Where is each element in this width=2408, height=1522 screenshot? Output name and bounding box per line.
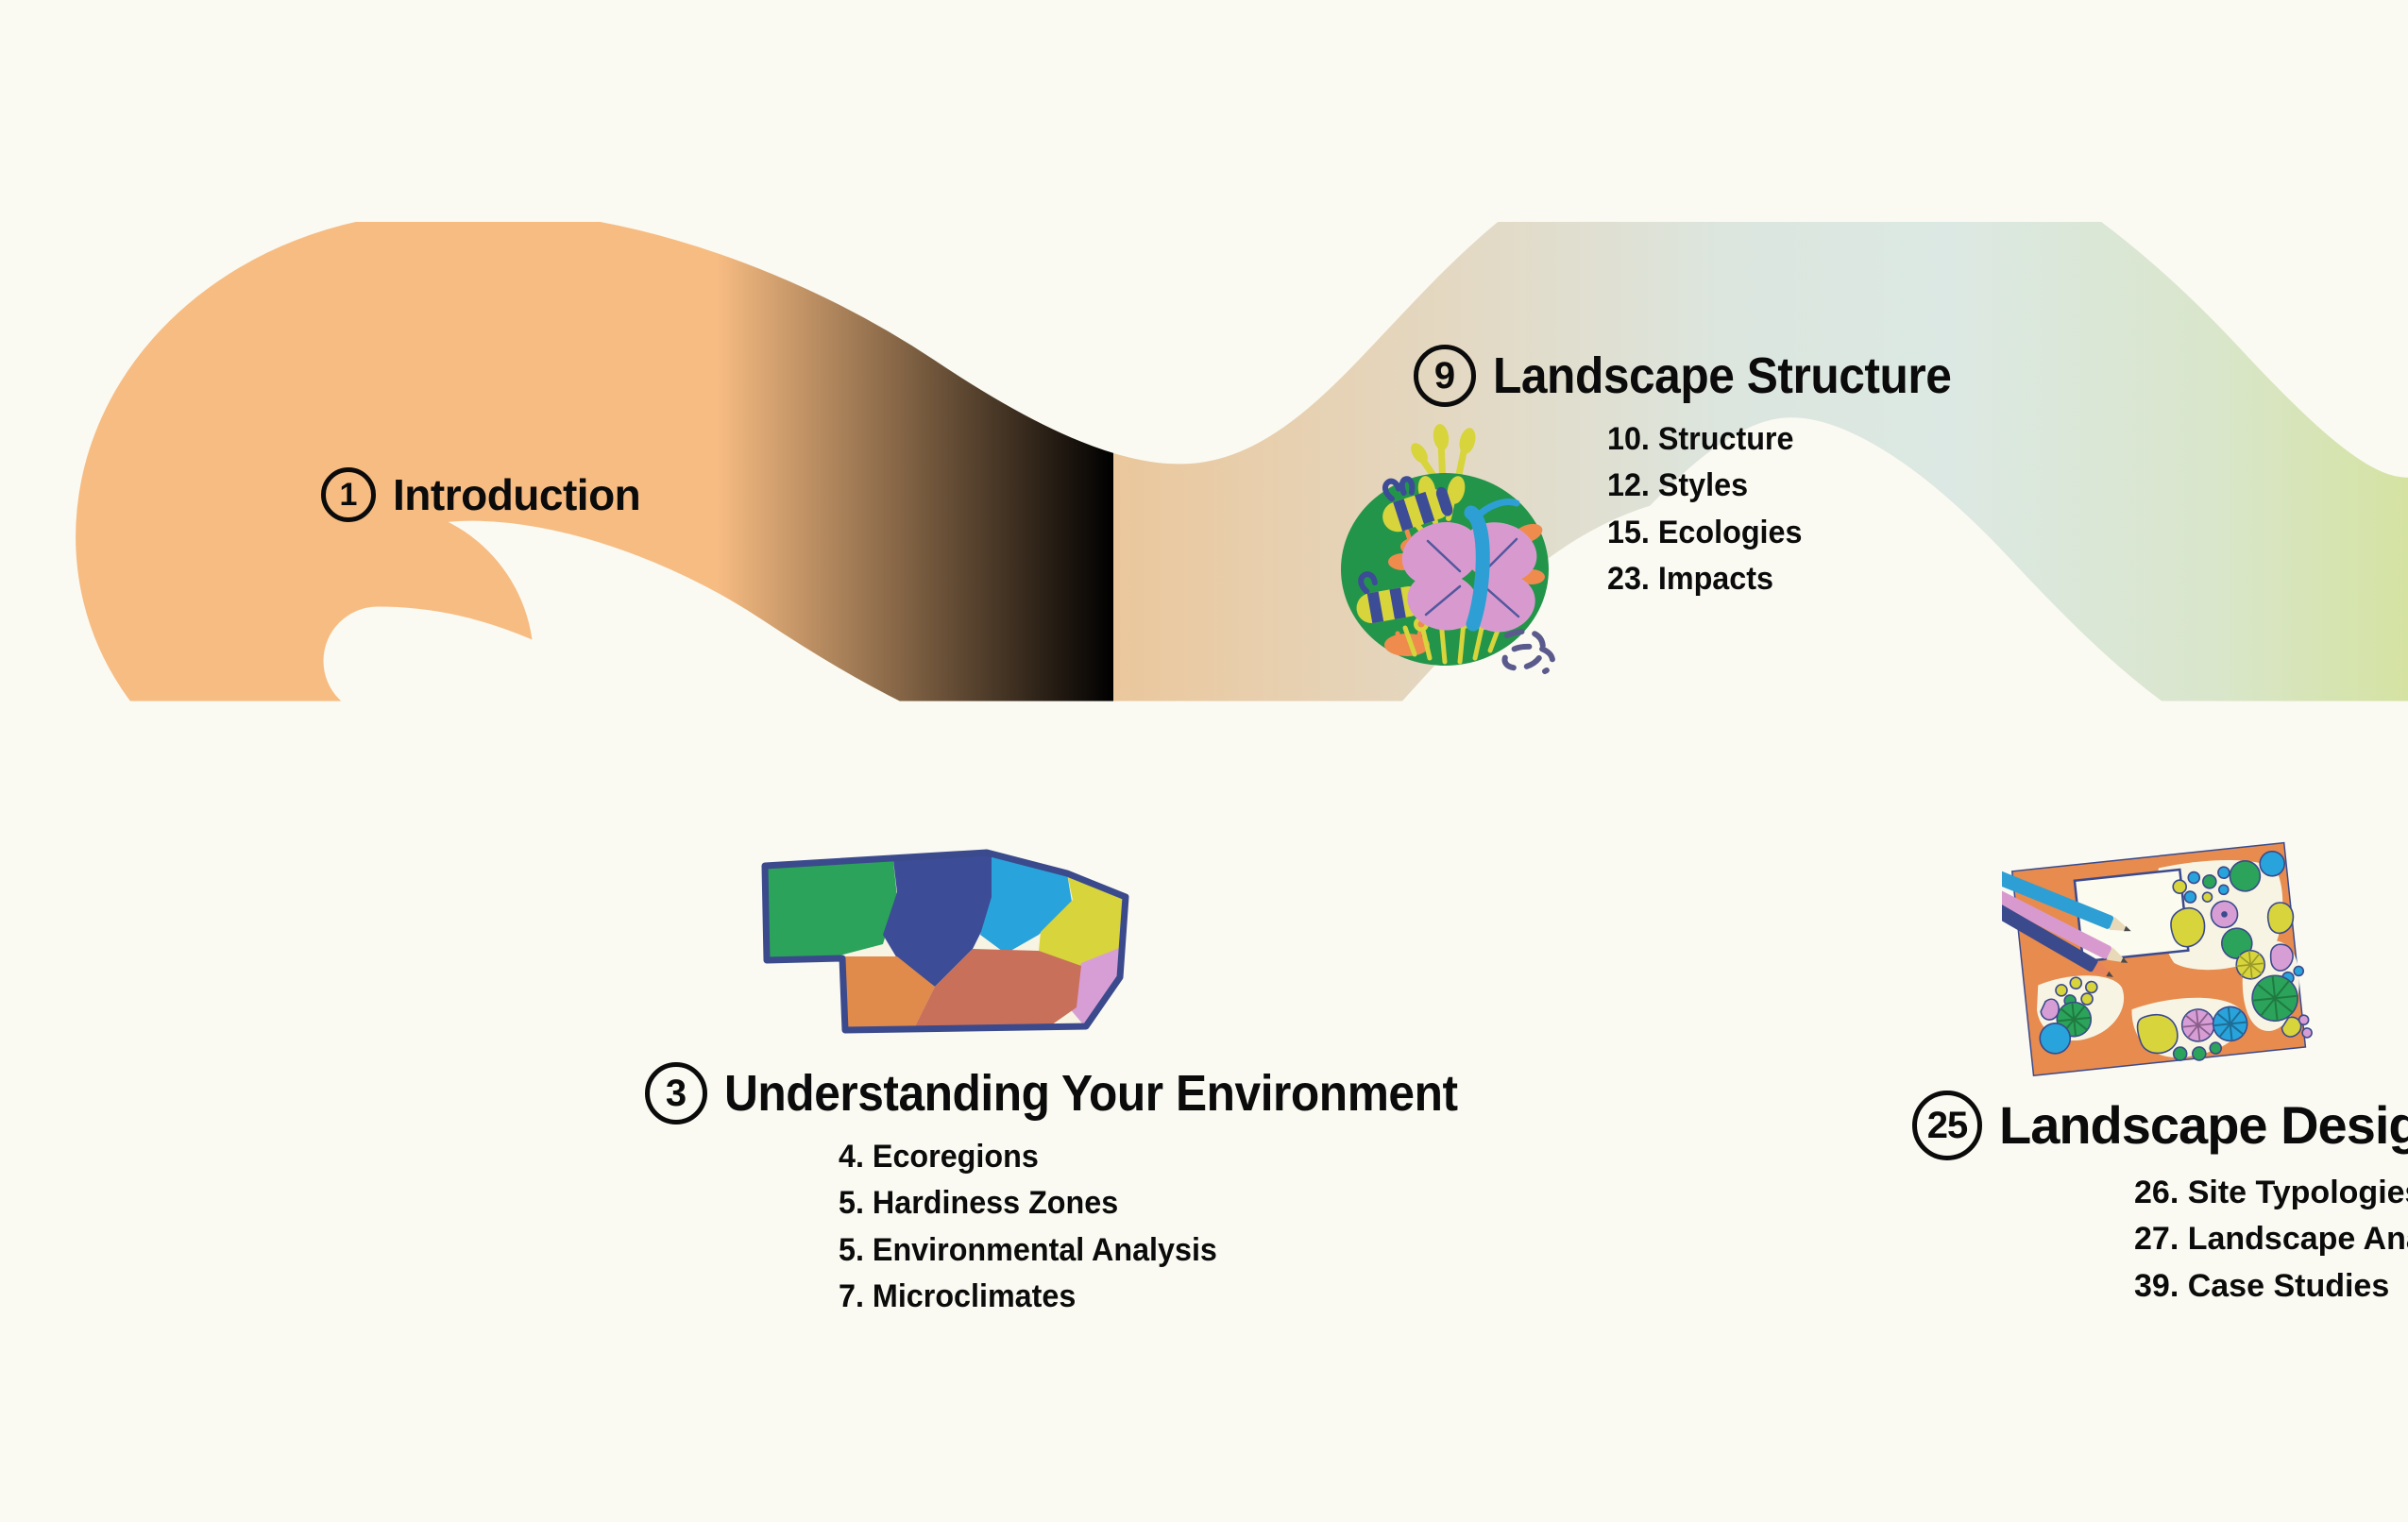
section-header: 1 Introduction bbox=[321, 467, 640, 522]
section-title: Understanding Your Environment bbox=[724, 1068, 1458, 1119]
section-header: 3 Understanding Your Environment bbox=[645, 1062, 1521, 1125]
list-item[interactable]: 27. Landscape Analysis bbox=[2134, 1216, 2408, 1262]
section-header: 25 Landscape Design bbox=[1912, 1091, 2408, 1160]
landscape-design-plan-illustration bbox=[2002, 840, 2314, 1076]
section-item-list: 10. Structure 12. Styles 15. Ecologies 2… bbox=[1607, 416, 1992, 602]
section-header: 9 Landscape Structure bbox=[1414, 345, 1992, 407]
section-title: Landscape Design bbox=[1999, 1099, 2408, 1152]
list-item[interactable]: 5. Hardiness Zones bbox=[839, 1180, 1487, 1226]
roadmap-diagram: 1 Introduction 3 Understanding Your Envi… bbox=[0, 0, 2408, 1522]
section-title: Introduction bbox=[393, 473, 640, 516]
section-number-badge: 1 bbox=[321, 467, 376, 522]
list-item[interactable]: 4. Ecoregions bbox=[839, 1134, 1487, 1180]
section-landscape-structure[interactable]: 9 Landscape Structure 10. Structure 12. … bbox=[1414, 345, 1992, 602]
list-item[interactable]: 12. Styles bbox=[1607, 463, 1972, 509]
list-item[interactable]: 26. Site Typologies bbox=[2134, 1170, 2408, 1216]
section-introduction[interactable]: 1 Introduction bbox=[321, 467, 640, 522]
section-title: Landscape Structure bbox=[1493, 350, 1951, 401]
section-number-badge: 3 bbox=[645, 1062, 707, 1125]
section-landscape-design[interactable]: 25 Landscape Design 26. Site Typologies … bbox=[1912, 1091, 2408, 1310]
list-item[interactable]: 23. Impacts bbox=[1607, 556, 1972, 602]
list-item[interactable]: 5. Environmental Analysis bbox=[839, 1227, 1487, 1274]
section-number-badge: 25 bbox=[1912, 1091, 1982, 1160]
section-understanding-your-environment[interactable]: 3 Understanding Your Environment 4. Ecor… bbox=[645, 1062, 1521, 1320]
section-item-list: 4. Ecoregions 5. Hardiness Zones 5. Envi… bbox=[839, 1134, 1521, 1320]
list-item[interactable]: 39. Case Studies bbox=[2134, 1263, 2408, 1310]
list-item[interactable]: 15. Ecologies bbox=[1607, 510, 1972, 556]
list-item[interactable]: 10. Structure bbox=[1607, 416, 1972, 463]
section-number-badge: 9 bbox=[1414, 345, 1476, 407]
list-item[interactable]: 7. Microclimates bbox=[839, 1274, 1487, 1320]
section-item-list: 26. Site Typologies 27. Landscape Analys… bbox=[2134, 1170, 2408, 1310]
nebraska-ecoregion-map-illustration bbox=[755, 845, 1133, 1034]
